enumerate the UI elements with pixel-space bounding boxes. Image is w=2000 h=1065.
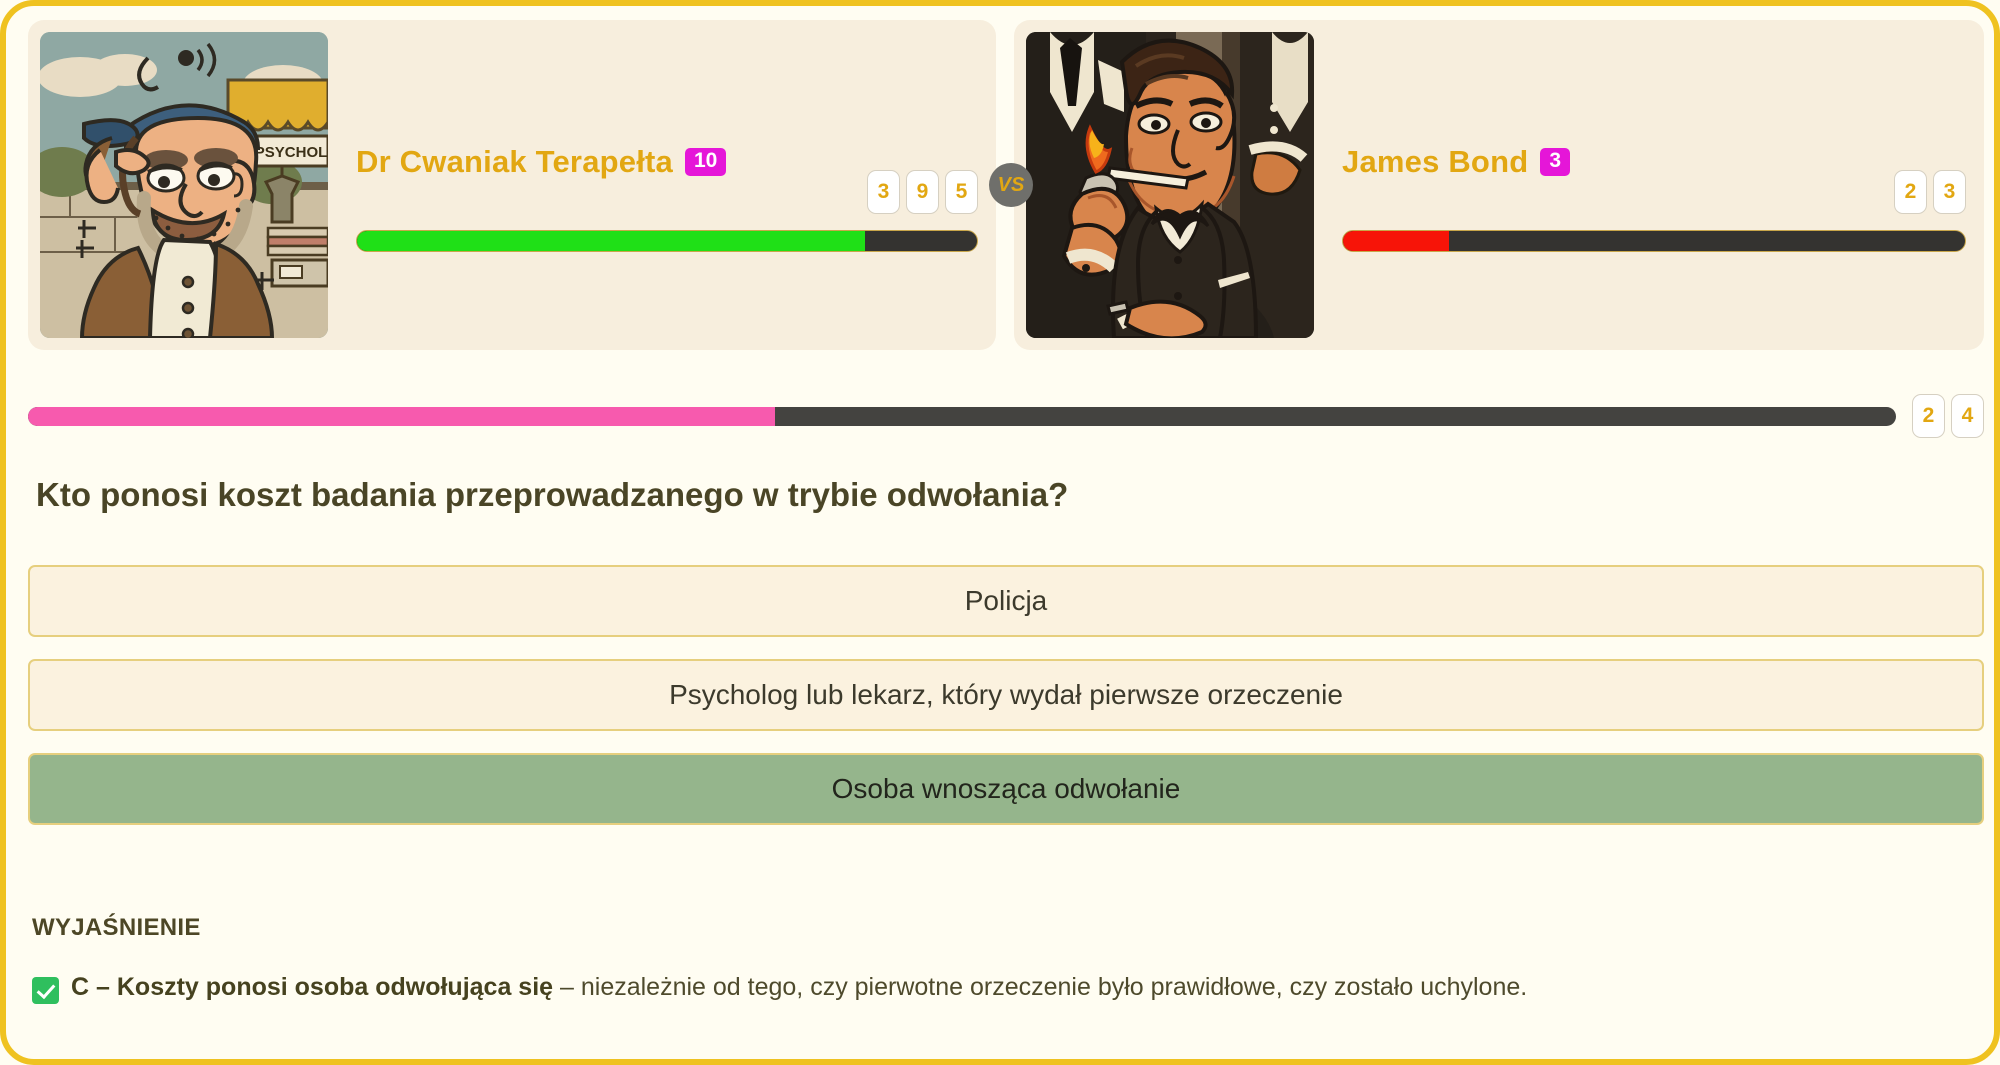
player-chips-left: 3 9 5 xyxy=(867,170,978,214)
stat-chip[interactable]: 2 xyxy=(1894,170,1927,214)
quiz-chips: 2 4 xyxy=(1912,394,1984,438)
explanation-title: WYJAŚNIENIE xyxy=(32,914,1962,942)
explanation-text: C – Koszty ponosi osoba odwołująca się –… xyxy=(71,972,1527,1003)
health-bar-left xyxy=(356,230,978,252)
health-bar-fill xyxy=(1343,231,1449,251)
player-panel-right[interactable]: James Bond 3 2 3 xyxy=(1014,20,1984,350)
quiz-chip[interactable]: 4 xyxy=(1951,394,1984,438)
health-bar-fill xyxy=(357,231,865,251)
quiz-progress-bar xyxy=(28,407,1896,426)
battle-row: PARAPSYCHOLOG xyxy=(28,20,1984,350)
player-chips-right: 2 3 xyxy=(1894,170,1966,214)
parapsycholog-portrait-icon: PARAPSYCHOLOG xyxy=(40,32,328,338)
quiz-progress-fill xyxy=(28,407,775,426)
vs-badge-icon: VS xyxy=(989,163,1033,207)
level-badge: 3 xyxy=(1540,148,1570,175)
explanation-answer-bold: Koszty ponosi osoba odwołująca się xyxy=(117,973,553,1001)
explanation-body: C – Koszty ponosi osoba odwołująca się –… xyxy=(32,972,1962,1004)
quiz-progress-row: 2 4 xyxy=(28,394,1984,438)
explanation-section: WYJAŚNIENIE C – Koszty ponosi osoba odwo… xyxy=(32,914,1962,1004)
explanation-dash: – xyxy=(96,973,110,1001)
james-bond-portrait-icon xyxy=(1026,32,1314,338)
quiz-chip[interactable]: 2 xyxy=(1912,394,1945,438)
answer-options: Policja Psycholog lub lekarz, który wyda… xyxy=(28,565,1984,825)
player-body-right: James Bond 3 2 3 xyxy=(1314,32,1972,338)
player-name: James Bond xyxy=(1342,144,1528,180)
explanation-rest: – niezależnie od tego, czy pierwotne orz… xyxy=(560,973,1527,1001)
player-panel-left[interactable]: PARAPSYCHOLOG xyxy=(28,20,996,350)
app-frame: PARAPSYCHOLOG xyxy=(0,0,2000,1065)
player-name: Dr Cwaniak Terapełta xyxy=(356,144,673,180)
player-name-row-left: Dr Cwaniak Terapełta 10 xyxy=(356,144,726,180)
explanation-letter: C xyxy=(71,973,89,1001)
level-badge: 10 xyxy=(685,148,726,175)
stat-chip[interactable]: 9 xyxy=(906,170,939,214)
answer-option-a[interactable]: Policja xyxy=(28,565,1984,637)
stat-chip[interactable]: 3 xyxy=(867,170,900,214)
health-bar-right xyxy=(1342,230,1966,252)
answer-option-c[interactable]: Osoba wnosząca odwołanie xyxy=(28,753,1984,825)
question-text: Kto ponosi koszt badania przeprowadzaneg… xyxy=(36,476,1936,514)
explanation-dash-1 xyxy=(89,973,96,1001)
stat-chip[interactable]: 3 xyxy=(1933,170,1966,214)
check-icon xyxy=(32,977,59,1004)
stat-chip[interactable]: 5 xyxy=(945,170,978,214)
answer-option-b[interactable]: Psycholog lub lekarz, który wydał pierws… xyxy=(28,659,1984,731)
player-name-row-right: James Bond 3 xyxy=(1342,144,1570,180)
player-body-left: Dr Cwaniak Terapełta 10 3 9 5 xyxy=(328,32,984,338)
